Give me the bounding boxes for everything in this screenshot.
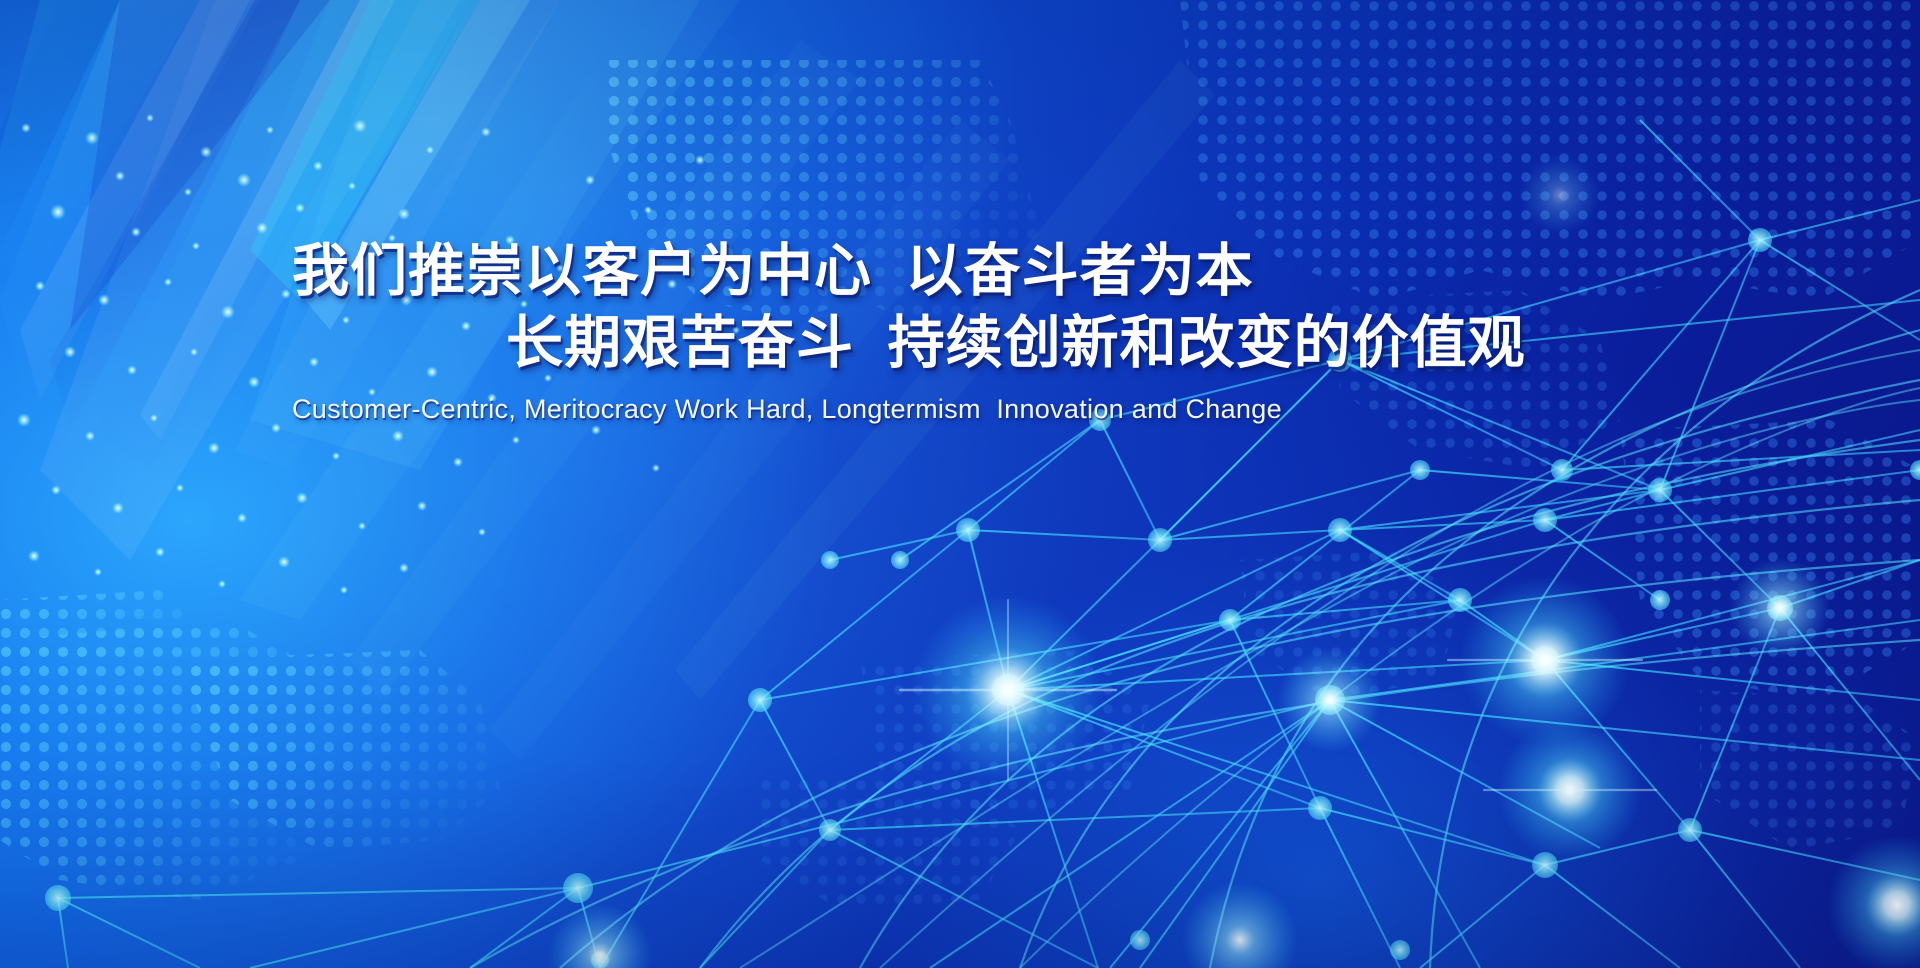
network-node-glows — [0, 0, 1920, 968]
headline-line-2: 长期艰苦奋斗 持续创新和改变的价值观 — [0, 310, 1920, 376]
subtitle-english: Customer-Centric, Meritocracy Work Hard,… — [0, 394, 1920, 425]
headline-line-1: 我们推崇以客户为中心 以奋斗者为本 — [0, 238, 1920, 304]
values-banner: 我们推崇以客户为中心 以奋斗者为本 长期艰苦奋斗 持续创新和改变的价值观 Cus… — [0, 0, 1920, 968]
banner-text-block: 我们推崇以客户为中心 以奋斗者为本 长期艰苦奋斗 持续创新和改变的价值观 Cus… — [0, 238, 1920, 425]
